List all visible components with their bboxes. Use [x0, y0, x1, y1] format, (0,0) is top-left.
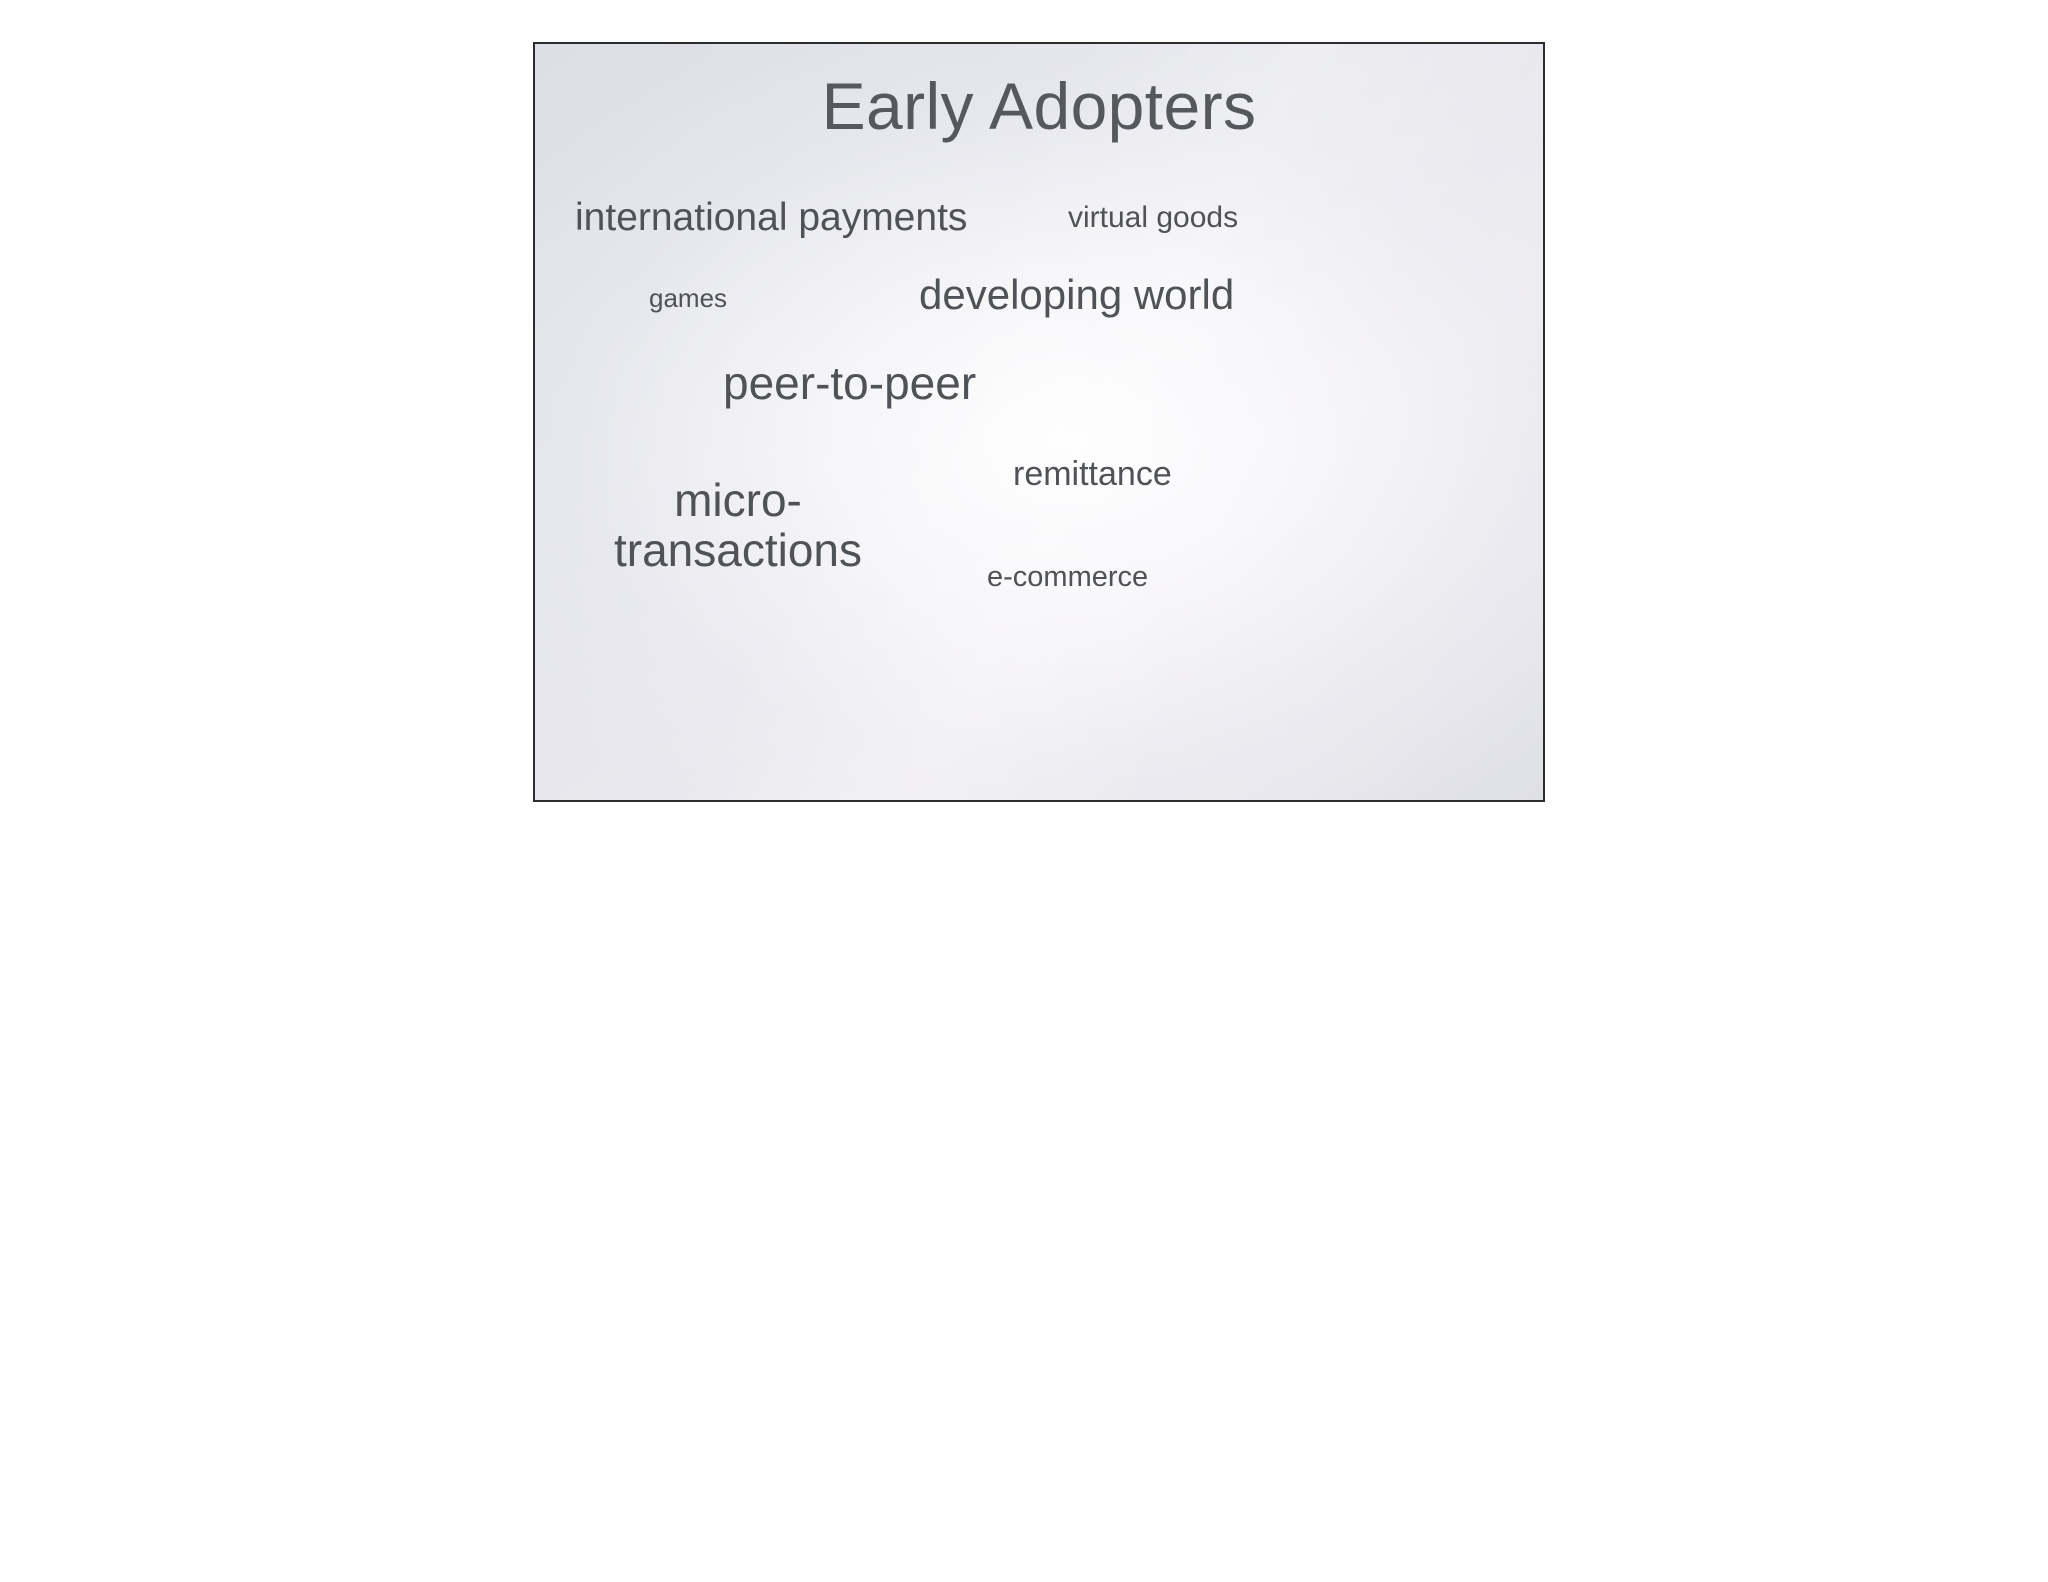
slide-content: Early Adopters international payments vi… — [535, 44, 1543, 800]
cloud-word-micro-transactions: micro-transactions — [605, 476, 871, 575]
cloud-word-virtual-goods: virtual goods — [1068, 202, 1238, 234]
cloud-word-e-commerce: e-commerce — [987, 562, 1148, 593]
cloud-word-peer-to-peer: peer-to-peer — [723, 359, 976, 409]
cloud-word-developing-world: developing world — [919, 272, 1234, 317]
slide-title: Early Adopters — [535, 72, 1543, 141]
cloud-word-games: games — [649, 284, 727, 312]
cloud-word-remittance: remittance — [1013, 456, 1172, 493]
cloud-word-international-payments: international payments — [575, 197, 967, 239]
presentation-slide: Early Adopters international payments vi… — [533, 42, 1545, 802]
